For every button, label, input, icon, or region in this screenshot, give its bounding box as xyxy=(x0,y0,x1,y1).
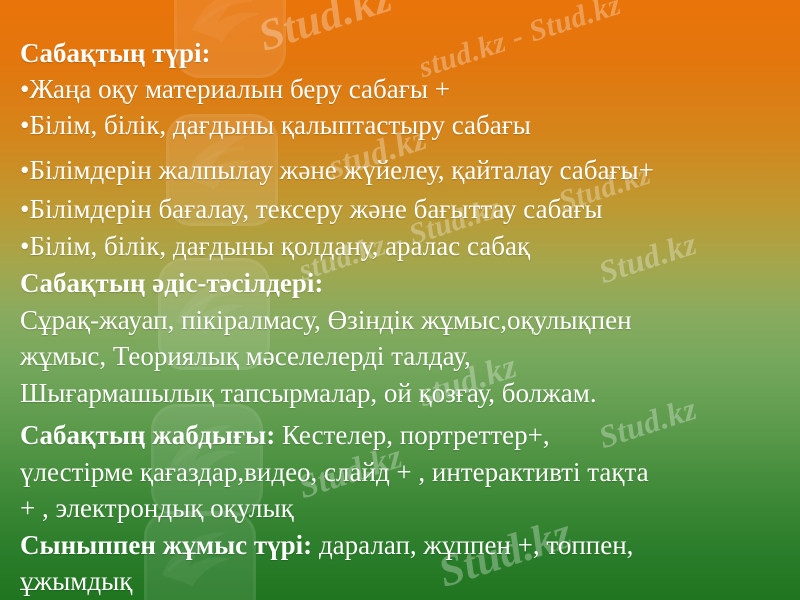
line-text: даралап, жұппен +, топпен, xyxy=(312,530,633,560)
heading-label: Сабақтың түрі: xyxy=(20,38,210,68)
line-text: Жаңа оқу материалын беру сабағы + xyxy=(29,74,449,104)
line-text: Шығармашылық тапсырмалар, ой қозғау, бол… xyxy=(20,378,597,408)
line-text: Білім, білік, дағдыны қолдану, аралас са… xyxy=(29,231,530,261)
bullet-list-item: •Білім, білік, дағдыны қалыптастыру саба… xyxy=(20,110,795,140)
line-text: Білімдерін жалпылау және жүйелеу, қайтал… xyxy=(29,155,653,185)
bullet-list-item: •Жаңа оқу материалын беру сабағы + xyxy=(20,74,795,104)
body-text-line: үлестірме қағаздар,видео, слайд + , инте… xyxy=(20,457,795,487)
line-text: Білім, білік, дағдыны қалыптастыру сабағ… xyxy=(29,110,530,140)
line-text: үлестірме қағаздар,видео, слайд + , инте… xyxy=(20,457,649,487)
heading-label: Сыныппен жұмыс түрі: xyxy=(20,530,312,560)
line-text: + , электрондық оқулық xyxy=(20,493,294,523)
heading-label: Сабақтың жабдығы: xyxy=(20,420,275,450)
presentation-slide: Stud.kzstud.kz - Stud.kzstud.kzStud.kzst… xyxy=(0,0,800,600)
section-heading: Сабақтың жабдығы: Кестелер, портреттер+, xyxy=(20,420,795,450)
section-heading: Сабақтың түрі: xyxy=(20,38,795,68)
section-heading: Сыныппен жұмыс түрі: даралап, жұппен +, … xyxy=(20,530,795,560)
line-text: Кестелер, портреттер+, xyxy=(275,420,549,450)
section-heading: Сабақтың әдіс-тәсілдері: xyxy=(20,268,795,298)
body-text-line: Сұрақ-жауап, пікіралмасу, Өзіндік жұмыс,… xyxy=(20,305,795,335)
line-text: ұжымдық xyxy=(20,566,132,596)
body-text-line: + , электрондық оқулық xyxy=(20,493,795,523)
slide-content: Сабақтың түрі:•Жаңа оқу материалын беру … xyxy=(0,0,800,600)
bullet-list-item: •Білім, білік, дағдыны қолдану, аралас с… xyxy=(20,231,795,261)
body-text-line: Шығармашылық тапсырмалар, ой қозғау, бол… xyxy=(20,378,795,408)
line-text: Білімдерін бағалау, тексеру және бағытта… xyxy=(29,194,602,224)
heading-label: Сабақтың әдіс-тәсілдері: xyxy=(20,268,323,298)
bullet-list-item: •Білімдерін бағалау, тексеру және бағытт… xyxy=(20,194,795,224)
bullet-list-item: •Білімдерін жалпылау және жүйелеу, қайта… xyxy=(20,155,795,185)
line-text: жұмыс, Теориялық мәселелерді талдау, xyxy=(20,341,471,371)
body-text-line: ұжымдық xyxy=(20,566,795,596)
line-text: Сұрақ-жауап, пікіралмасу, Өзіндік жұмыс,… xyxy=(20,305,632,335)
body-text-line: жұмыс, Теориялық мәселелерді талдау, xyxy=(20,341,795,371)
